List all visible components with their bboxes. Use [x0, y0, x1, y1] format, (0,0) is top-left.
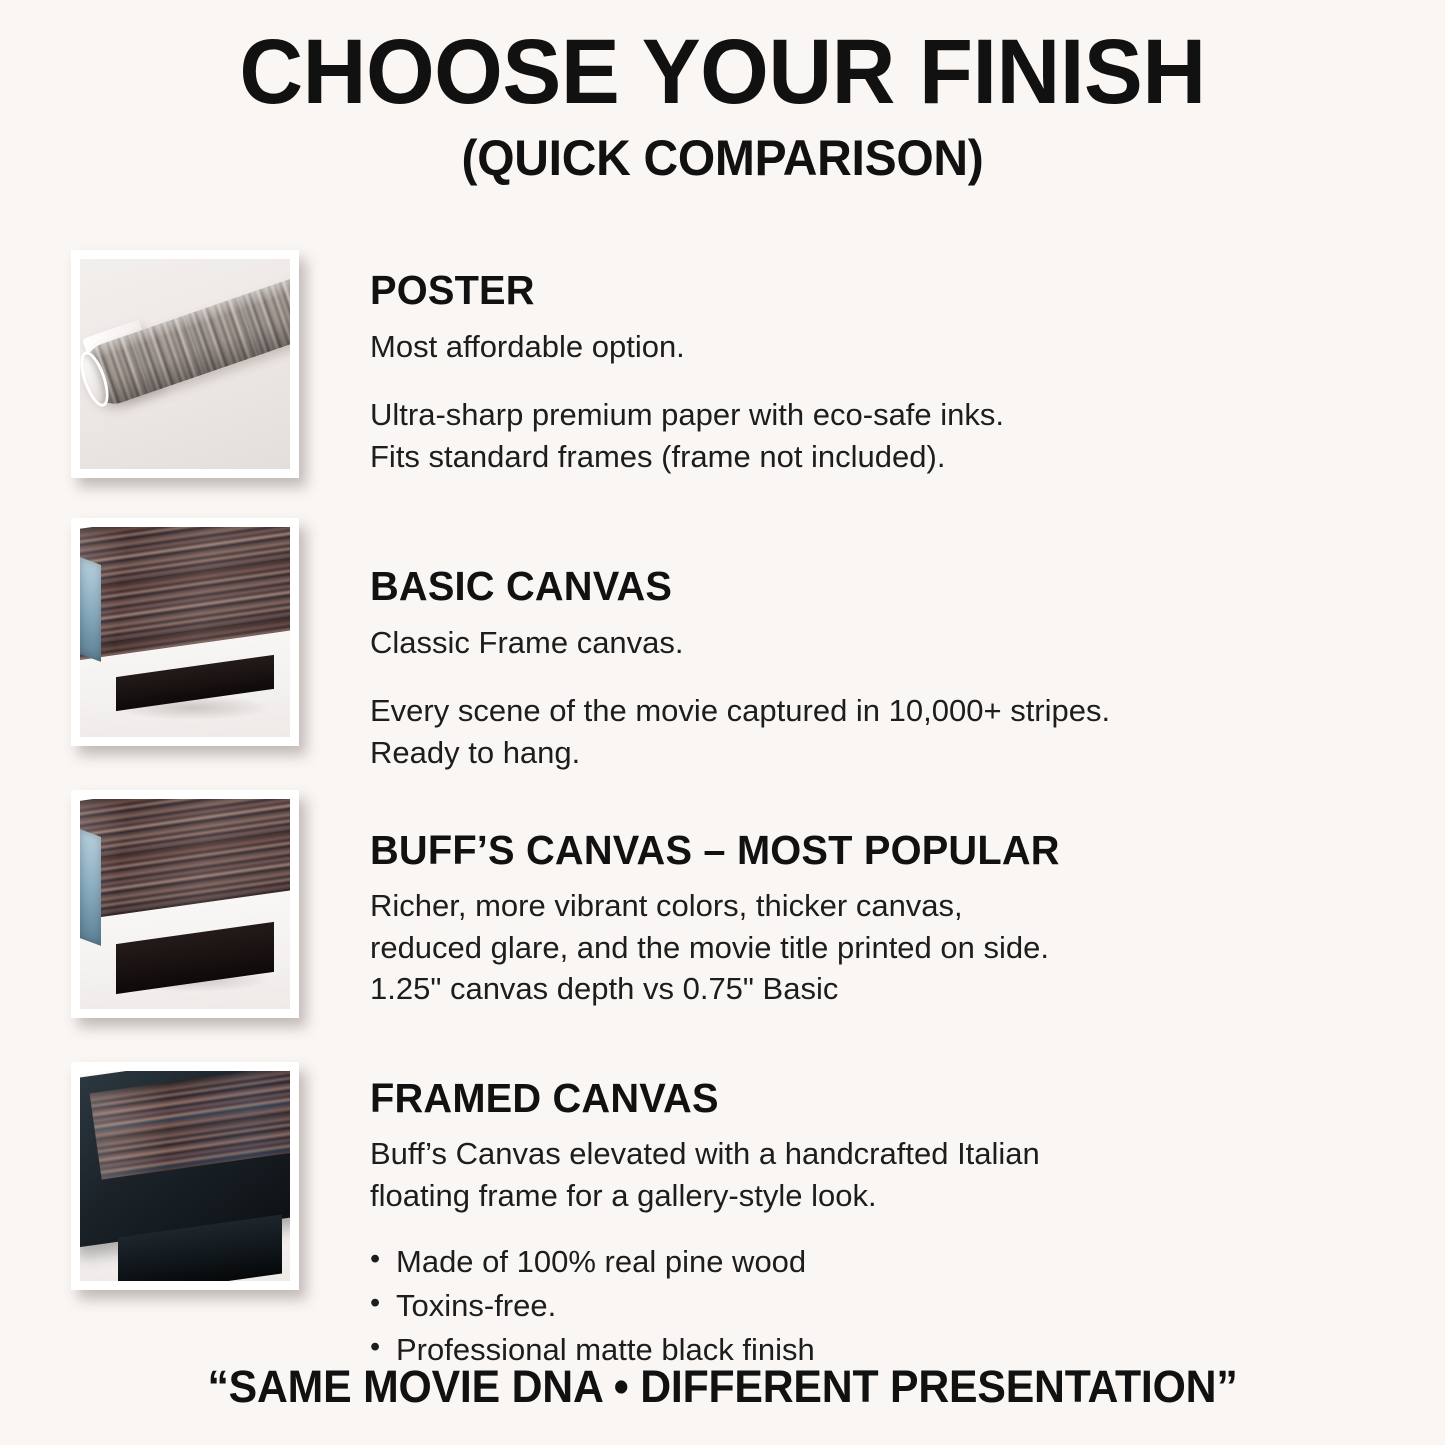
- list-item: Made of 100% real pine wood: [370, 1240, 1385, 1284]
- finish-option-basic-canvas: BASIC CANVAS Classic Frame canvas. Every…: [0, 518, 1445, 790]
- buffs-canvas-thumbnail-wrap: [0, 790, 370, 1018]
- basic-canvas-thumbnail: [71, 518, 299, 746]
- poster-body-line-2: Fits standard frames (frame not included…: [370, 436, 1385, 478]
- poster-body: Ultra-sharp premium paper with eco-safe …: [370, 394, 1385, 477]
- buffs-canvas-photo: [80, 799, 290, 1009]
- poster-thumbnail-wrap: [0, 250, 370, 478]
- framed-canvas-thumbnail-wrap: [0, 1062, 370, 1290]
- framed-canvas-title: FRAMED CANVAS: [370, 1076, 1355, 1121]
- buffs-canvas-left-edge: [80, 829, 101, 946]
- buffs-canvas-thumbnail: [71, 790, 299, 1018]
- framed-canvas-text-block: FRAMED CANVAS Buff’s Canvas elevated wit…: [370, 1062, 1445, 1372]
- buffs-canvas-title: BUFF’S CANVAS – MOST POPULAR: [370, 828, 1355, 873]
- buffs-canvas-text-block: BUFF’S CANVAS – MOST POPULAR Richer, mor…: [370, 790, 1445, 1010]
- finish-option-framed-canvas: FRAMED CANVAS Buff’s Canvas elevated wit…: [0, 1062, 1445, 1334]
- framed-canvas-printed-face: [90, 1071, 290, 1179]
- framed-canvas-photo: [80, 1071, 290, 1281]
- poster-body-line-1: Ultra-sharp premium paper with eco-safe …: [370, 394, 1385, 436]
- basic-canvas-photo: [80, 527, 290, 737]
- buffs-canvas-body: Richer, more vibrant colors, thicker can…: [370, 885, 1385, 1010]
- framed-canvas-feature-list: Made of 100% real pine wood Toxins-free.…: [370, 1240, 1385, 1372]
- buffs-canvas-body-line-2: reduced glare, and the movie title print…: [370, 927, 1385, 969]
- basic-canvas-title: BASIC CANVAS: [370, 564, 1355, 609]
- basic-canvas-lead: Classic Frame canvas.: [370, 623, 1385, 664]
- page-title: CHOOSE YOUR FINISH: [29, 26, 1416, 120]
- framed-canvas-body: Buff’s Canvas elevated with a handcrafte…: [370, 1133, 1385, 1216]
- finish-option-buffs-canvas: BUFF’S CANVAS – MOST POPULAR Richer, mor…: [0, 790, 1445, 1062]
- basic-canvas-left-edge: [80, 557, 101, 661]
- finish-options-list: POSTER Most affordable option. Ultra-sha…: [0, 250, 1445, 1334]
- finish-option-poster: POSTER Most affordable option. Ultra-sha…: [0, 250, 1445, 518]
- poster-lead: Most affordable option.: [370, 327, 1385, 368]
- header: CHOOSE YOUR FINISH (QUICK COMPARISON): [0, 0, 1445, 184]
- buffs-canvas-body-line-3: 1.25" canvas depth vs 0.75" Basic: [370, 968, 1385, 1010]
- basic-canvas-body-line-1: Every scene of the movie captured in 10,…: [370, 690, 1385, 732]
- infographic-page: CHOOSE YOUR FINISH (QUICK COMPARISON) PO…: [0, 0, 1445, 1445]
- poster-text-block: POSTER Most affordable option. Ultra-sha…: [370, 250, 1445, 477]
- page-subtitle: (QUICK COMPARISON): [29, 132, 1416, 185]
- list-item: Toxins-free.: [370, 1284, 1385, 1328]
- basic-canvas-body-line-2: Ready to hang.: [370, 732, 1385, 774]
- framed-canvas-thumbnail: [71, 1062, 299, 1290]
- basic-canvas-body: Every scene of the movie captured in 10,…: [370, 690, 1385, 773]
- framed-canvas-body-line-1: Buff’s Canvas elevated with a handcrafte…: [370, 1133, 1385, 1175]
- basic-canvas-thumbnail-wrap: [0, 518, 370, 746]
- buffs-canvas-body-line-1: Richer, more vibrant colors, thicker can…: [370, 885, 1385, 927]
- basic-canvas-text-block: BASIC CANVAS Classic Frame canvas. Every…: [370, 518, 1445, 773]
- poster-photo: [80, 259, 290, 469]
- poster-title: POSTER: [370, 268, 1355, 313]
- footer-tagline: “SAME MOVIE DNA • DIFFERENT PRESENTATION…: [36, 1361, 1409, 1413]
- framed-canvas-body-line-2: floating frame for a gallery-style look.: [370, 1175, 1385, 1217]
- poster-thumbnail: [71, 250, 299, 478]
